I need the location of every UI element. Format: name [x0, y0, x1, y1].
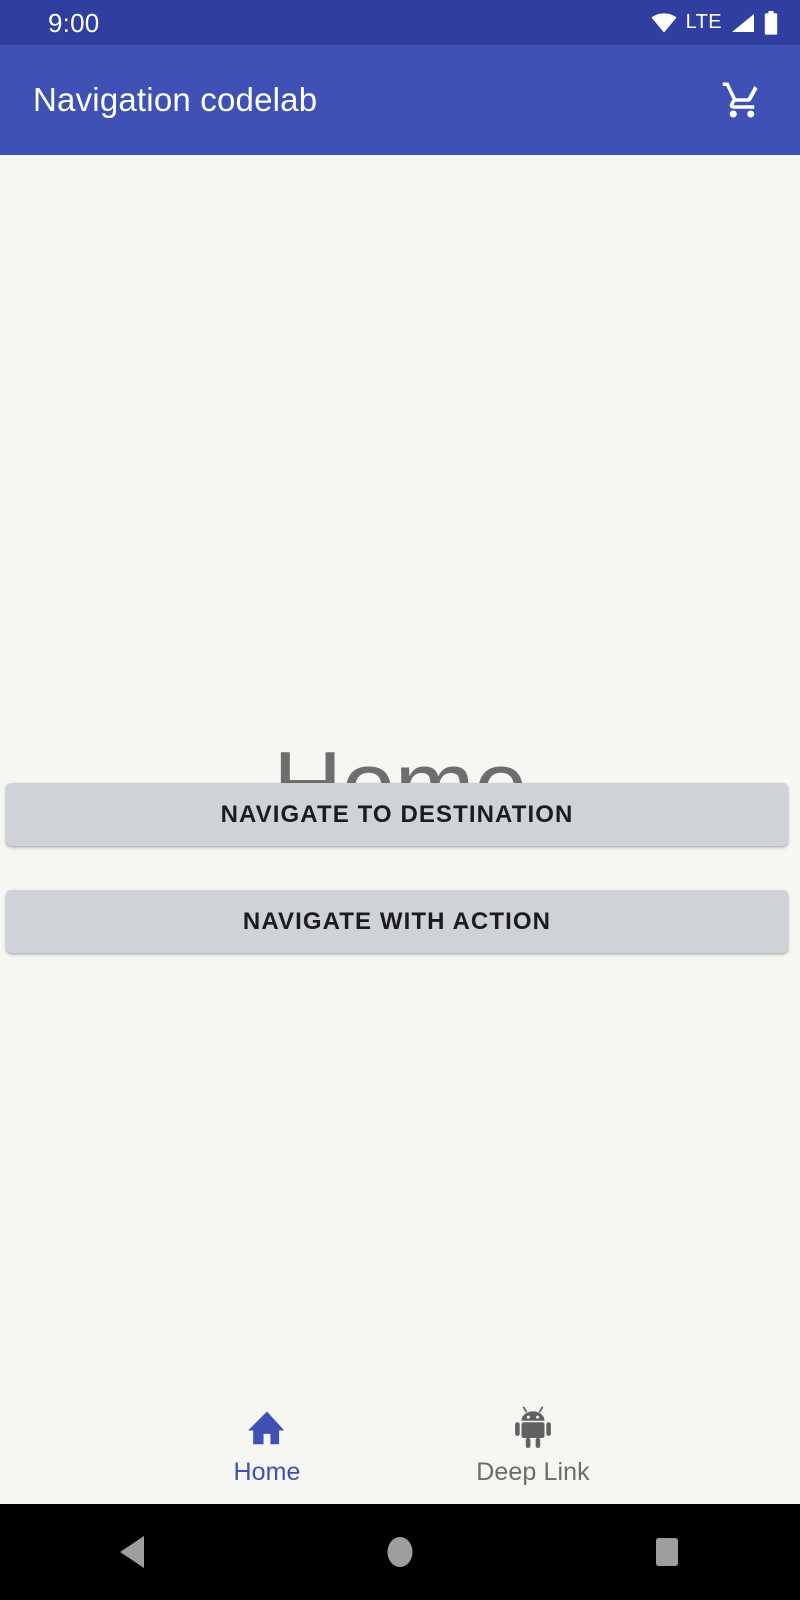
- button-group: NAVIGATE TO DESTINATION NAVIGATE WITH AC…: [0, 783, 800, 997]
- home-button[interactable]: [330, 1504, 470, 1600]
- page-title: Navigation codelab: [33, 81, 317, 119]
- status-icons: LTE: [651, 11, 778, 35]
- bottom-nav-label-home: Home: [233, 1458, 300, 1487]
- signal-icon: [731, 13, 755, 33]
- app-bar: Navigation codelab: [0, 45, 800, 155]
- android-robot-icon: [513, 1404, 553, 1450]
- triangle-back-icon: [118, 1535, 148, 1569]
- home-icon-wrap: [246, 1404, 288, 1450]
- status-time: 9:00: [48, 10, 99, 36]
- navigate-with-action-button[interactable]: NAVIGATE WITH ACTION: [6, 890, 788, 953]
- battery-icon: [764, 11, 778, 35]
- bottom-navigation: Home: [0, 1379, 800, 1504]
- phone-screen: 9:00 LTE Navigation codelab: [0, 0, 800, 1600]
- wifi-icon: [651, 13, 677, 33]
- recents-button[interactable]: [597, 1504, 737, 1600]
- status-bar: 9:00 LTE: [0, 0, 800, 45]
- bottom-nav-item-home[interactable]: Home: [134, 1379, 400, 1504]
- android-icon-wrap: [513, 1404, 553, 1450]
- circle-home-icon: [385, 1534, 415, 1570]
- bottom-nav-label-deep-link: Deep Link: [476, 1458, 589, 1487]
- cart-button[interactable]: [714, 72, 770, 128]
- square-recents-icon: [653, 1534, 681, 1570]
- network-type-label: LTE: [686, 11, 722, 34]
- system-navigation-bar: [0, 1504, 800, 1600]
- navigate-to-destination-button[interactable]: NAVIGATE TO DESTINATION: [6, 783, 788, 846]
- back-button[interactable]: [63, 1504, 203, 1600]
- shopping-cart-icon: [721, 79, 763, 121]
- home-icon: [246, 1408, 288, 1446]
- main-content: Home NAVIGATE TO DESTINATION NAVIGATE WI…: [0, 155, 800, 1504]
- bottom-nav-item-deep-link[interactable]: Deep Link: [400, 1379, 666, 1504]
